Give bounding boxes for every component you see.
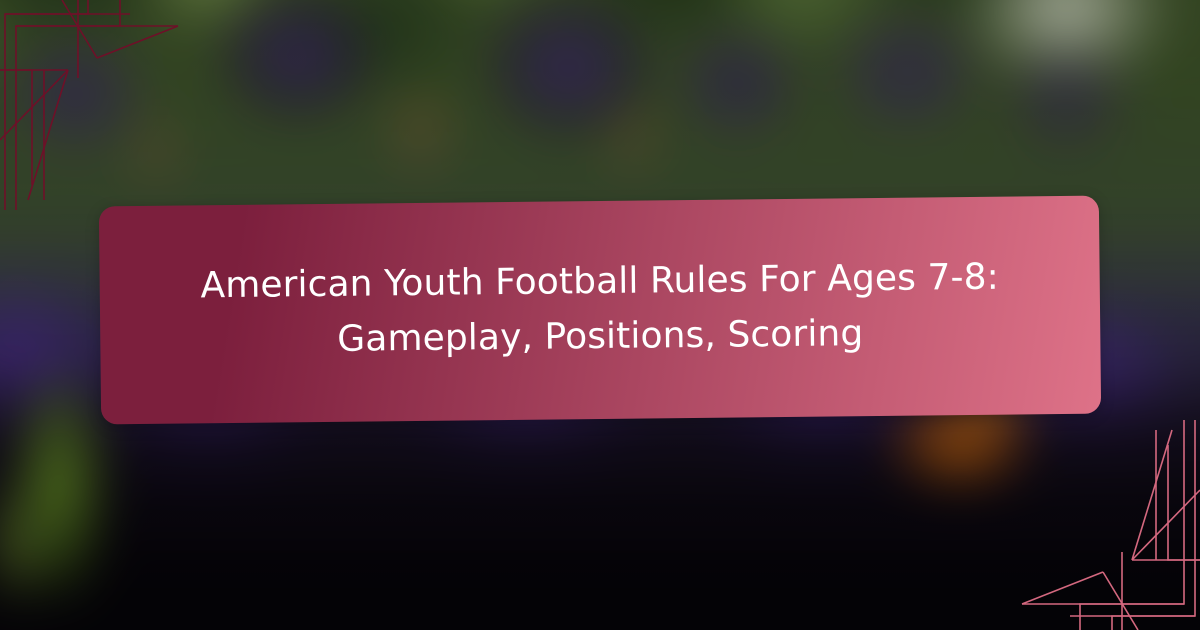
corner-lines-bottom-right xyxy=(970,420,1200,630)
page-title-line-1: American Youth Football Rules For Ages 7… xyxy=(200,257,999,307)
corner-lines-top-left xyxy=(0,0,230,210)
page-title: American Youth Football Rules For Ages 7… xyxy=(169,251,1030,370)
title-card: American Youth Football Rules For Ages 7… xyxy=(99,196,1101,425)
og-image-canvas: American Youth Football Rules For Ages 7… xyxy=(0,0,1200,630)
page-title-line-2: Gameplay, Positions, Scoring xyxy=(337,313,863,360)
